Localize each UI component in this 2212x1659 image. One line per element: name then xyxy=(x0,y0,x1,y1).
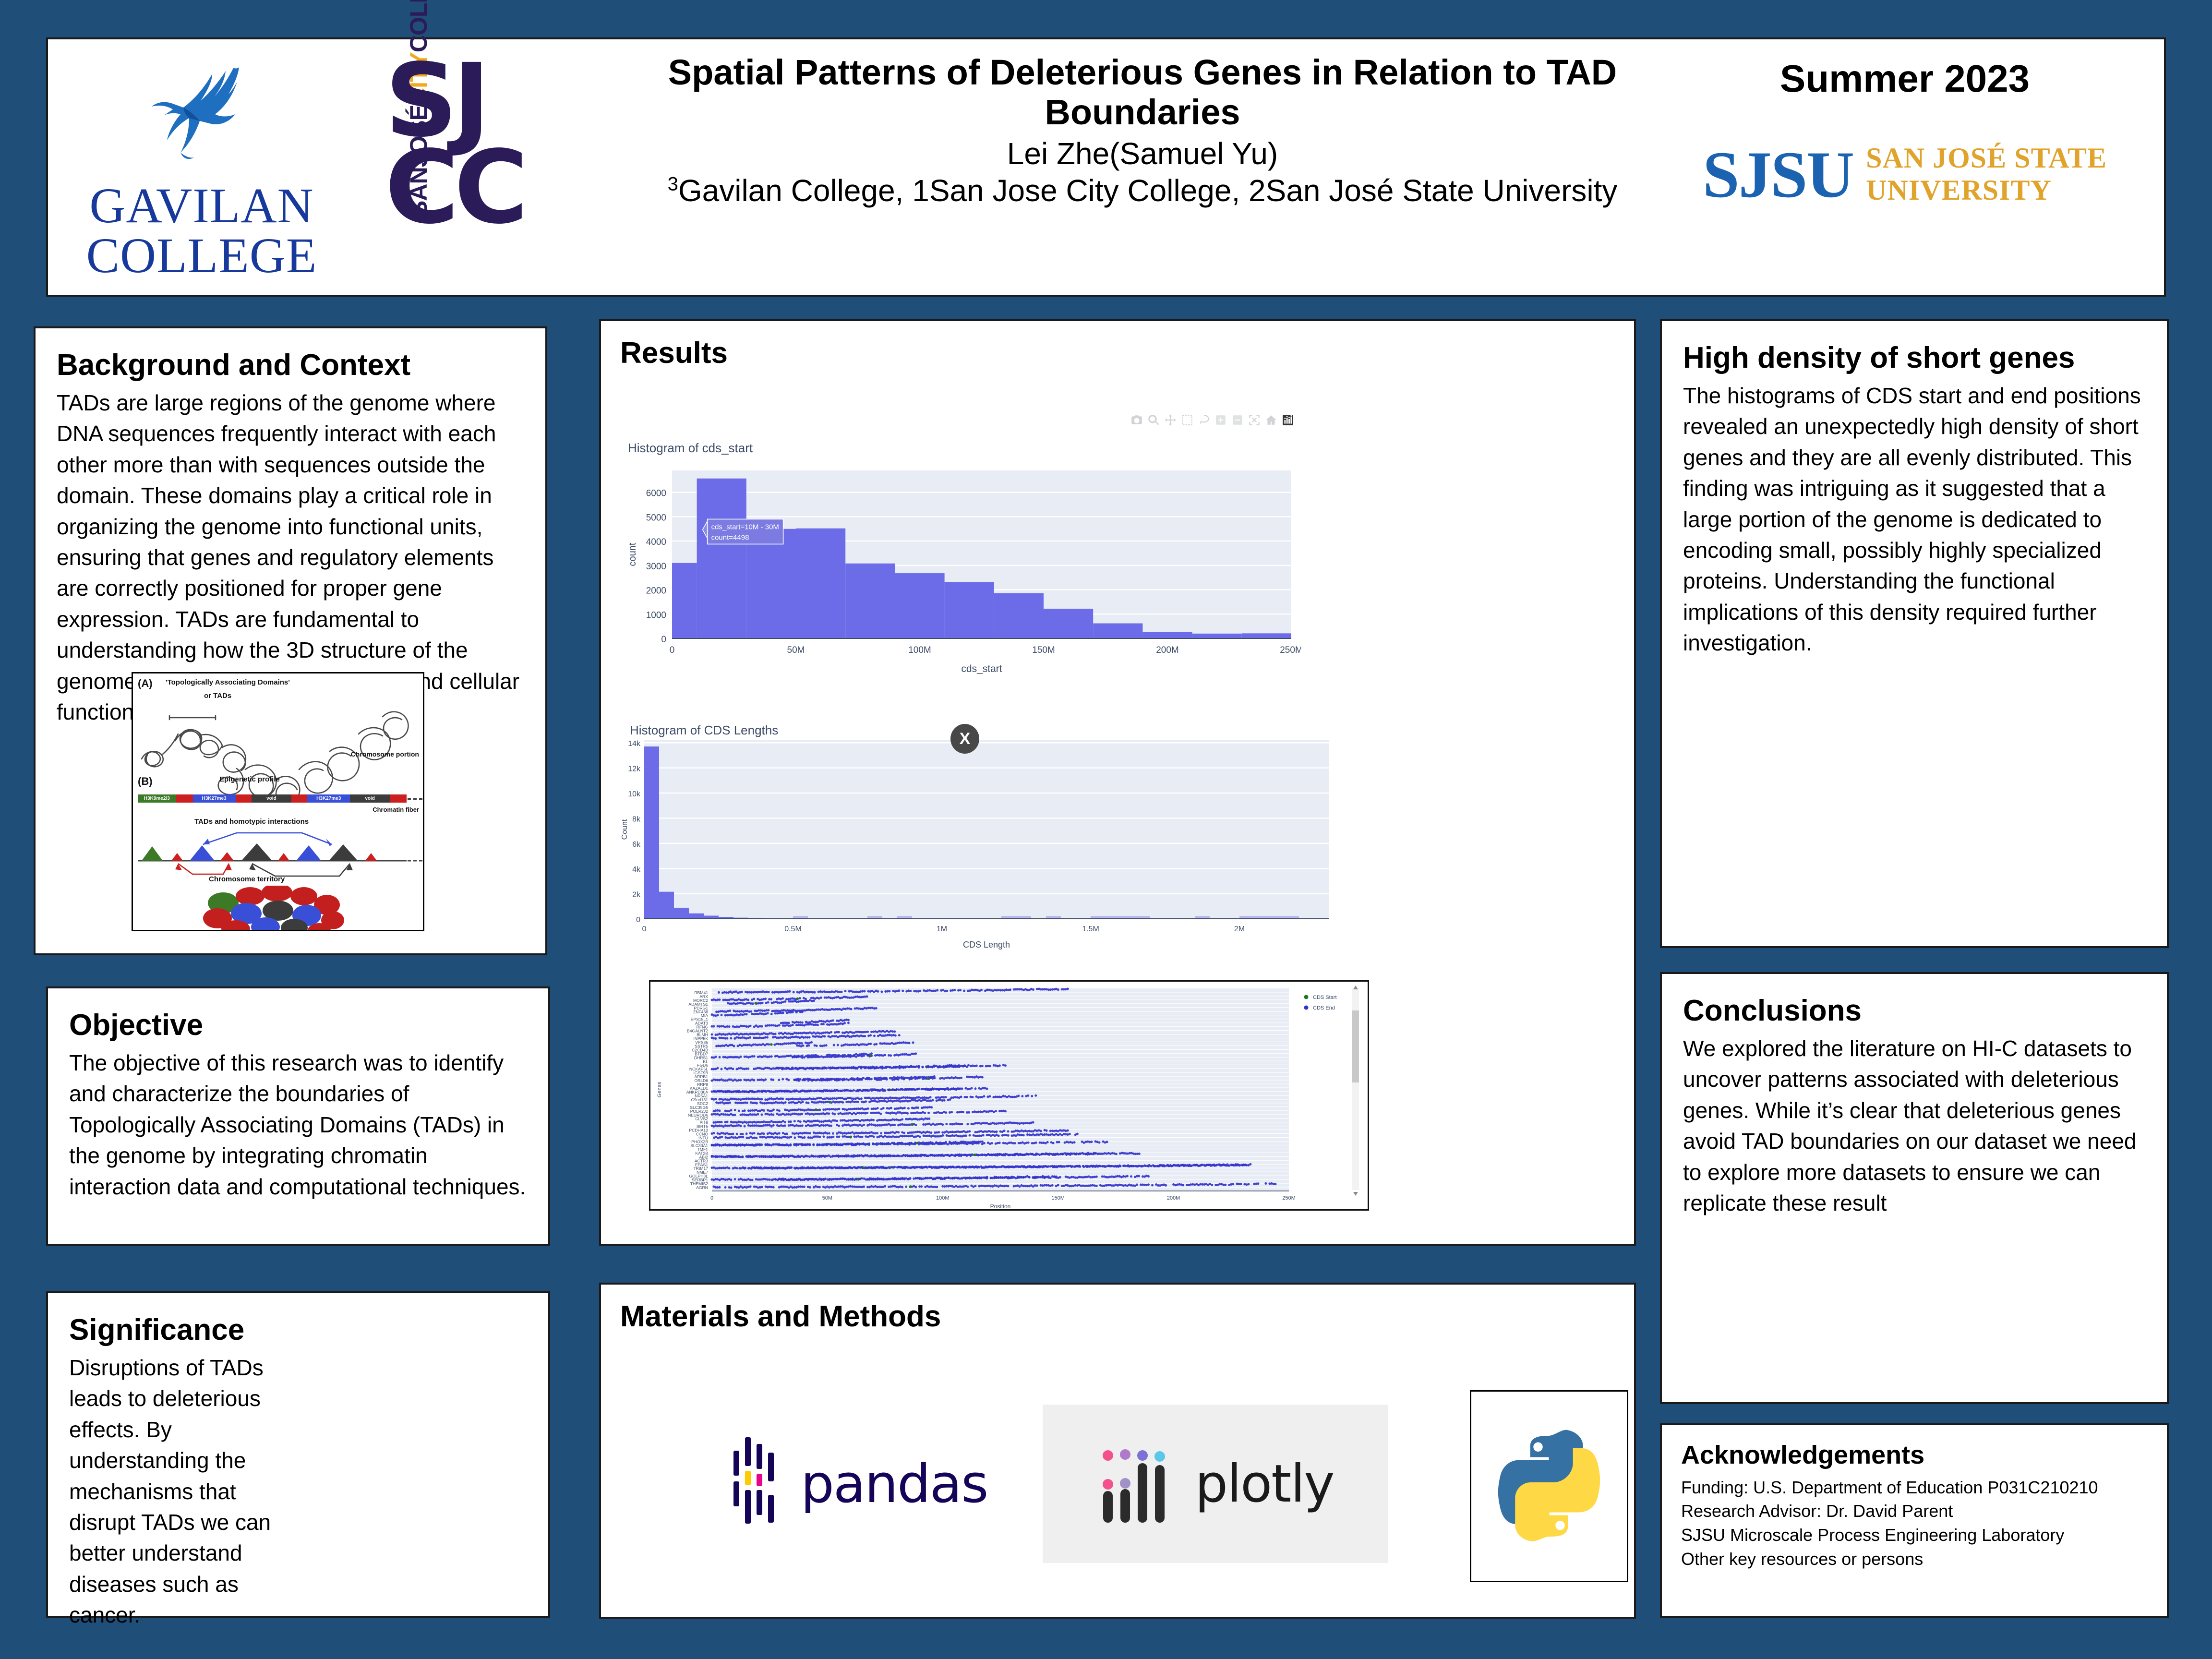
chromosome-portion-label: Chromosome portion xyxy=(351,750,419,758)
epigenetic-segment xyxy=(176,794,193,803)
section-conclusions: Conclusions We explored the literature o… xyxy=(1660,972,2169,1404)
chart1-xtick: 50M xyxy=(787,645,805,655)
chart-gene-position-scatter[interactable]: RBM41ARXMORC2ADAMTS1PDRG1ZNF468MIAEPS15L… xyxy=(649,980,1369,1211)
epigenetic-profile-label: Epigenetic profile xyxy=(219,775,280,783)
box-select-icon[interactable] xyxy=(1181,414,1193,426)
sjsu-line-1: SAN JOSÉ STATE xyxy=(1866,142,2107,174)
chart1-tooltip: cds_start=10M - 30Mcount=4498 xyxy=(703,519,783,544)
chart3-legend-item[interactable]: CDS Start xyxy=(1313,995,1337,1000)
chart1-ytick: 0 xyxy=(661,635,666,645)
gavilan-line-1: GAVILAN xyxy=(67,181,336,231)
chart1-xtick: 200M xyxy=(1156,645,1179,655)
chart3-xtick: 50M xyxy=(822,1195,832,1201)
epigenetic-segment: void xyxy=(252,794,291,803)
sjcc-logo: SANJOSÉCITYCOLLEGE SJ CC xyxy=(345,54,503,279)
section-objective: Objective The objective of this research… xyxy=(46,986,550,1246)
chart3-gene-label: AGRN xyxy=(696,1185,708,1190)
gavilan-college-logo: GAVILAN COLLEGE xyxy=(67,54,336,279)
header-title-block: Spatial Patterns of Deleterious Genes in… xyxy=(590,53,1695,209)
python-logo-icon xyxy=(1489,1426,1609,1546)
author-name: Lei Zhe(Samuel Yu) xyxy=(590,135,1695,172)
methods-logos-row: pandas xyxy=(601,1395,1634,1597)
lasso-select-icon[interactable] xyxy=(1198,414,1210,426)
objective-body: The objective of this research was to id… xyxy=(69,1047,527,1202)
term-label: Summer 2023 xyxy=(1674,57,2135,101)
pandas-mark-icon xyxy=(731,1433,788,1534)
chart2-xtick: 1M xyxy=(937,925,947,933)
acknowledgement-line: Other key resources or persons xyxy=(1681,1547,2148,1571)
high-density-title: High density of short genes xyxy=(1683,342,2146,373)
chart1-xlabel: cds_start xyxy=(961,663,1002,674)
chart1-tooltip-line2: count=4498 xyxy=(711,533,749,541)
camera-icon[interactable] xyxy=(1130,414,1143,426)
chromatin-fiber-dash xyxy=(408,798,424,800)
significance-body: Disruptions of TADs leads to deleterious… xyxy=(69,1352,304,1631)
pandas-wordmark: pandas xyxy=(801,1453,988,1515)
chart1-tooltip-line1: cds_start=10M - 30M xyxy=(711,523,779,531)
zoom-in-icon[interactable] xyxy=(1214,414,1227,426)
results-title: Results xyxy=(620,337,1615,369)
section-high-density-of-short-genes: High density of short genes The histogra… xyxy=(1660,319,2169,948)
chart2-ytick: 6k xyxy=(632,841,641,849)
tad-interaction-peaks xyxy=(138,828,424,881)
python-logo xyxy=(1470,1390,1628,1582)
affiliation-text: Gavilan College, 1San Jose City College,… xyxy=(678,173,1618,208)
gavilan-wordmark: GAVILAN COLLEGE xyxy=(67,181,336,281)
epigenetic-segment: H3K27me3 xyxy=(307,794,350,803)
zoom-icon[interactable] xyxy=(1147,414,1160,426)
chart1-svg: 0100020003000400050006000050M100M150M200… xyxy=(619,418,1301,686)
acknowledgement-line: Research Advisor: Dr. David Parent xyxy=(1681,1499,2148,1523)
epigenetic-segment: H3K27me3 xyxy=(193,794,236,803)
page-title: Spatial Patterns of Deleterious Genes in… xyxy=(590,53,1695,132)
chart3-xlabel: Position xyxy=(990,1203,1011,1209)
chart2-title: Histogram of CDS Lengths xyxy=(630,723,778,738)
chart2-ytick: 2k xyxy=(632,891,641,899)
chart1-title: Histogram of cds_start xyxy=(628,441,753,456)
chart2-ytick: 0 xyxy=(636,916,640,924)
reset-home-icon[interactable] xyxy=(1265,414,1277,426)
plotly-logo: plotly xyxy=(1043,1405,1388,1563)
sjsu-wordmark: SJSU xyxy=(1703,143,1853,206)
section-acknowledgements: Acknowledgements Funding: U.S. Departmen… xyxy=(1660,1423,2169,1618)
epigenetic-segment xyxy=(236,794,252,803)
close-icon[interactable]: X xyxy=(950,724,979,754)
plotly-modebar-chart1[interactable] xyxy=(1130,414,1294,426)
chart3-xtick: 100M xyxy=(936,1195,950,1201)
epigenetic-segment: void xyxy=(350,794,390,803)
section-materials-and-methods: Materials and Methods xyxy=(599,1283,1636,1619)
materials-title: Materials and Methods xyxy=(620,1301,1615,1332)
chart3-legend-item[interactable]: CDS End xyxy=(1313,1005,1335,1011)
chart3-xtick: 0 xyxy=(710,1195,713,1201)
gavilan-bird-icon xyxy=(139,62,274,182)
chart2-xtick: 2M xyxy=(1234,925,1245,933)
epigenetic-profile-bar: H3K9me2/3H3K27me3voidH3K27me3void xyxy=(138,794,407,803)
chart1-xtick: 100M xyxy=(908,645,931,655)
chart1-xtick: 0 xyxy=(670,645,675,655)
chart1-ytick: 4000 xyxy=(646,537,666,547)
gavilan-line-2: COLLEGE xyxy=(67,231,336,281)
chart1-ytick: 6000 xyxy=(646,489,666,499)
chromatin-fiber-label: Chromatin fiber xyxy=(373,806,419,813)
chart1-ylabel: count xyxy=(627,542,638,566)
zoom-out-icon[interactable] xyxy=(1231,414,1244,426)
chromosome-territory-blobs xyxy=(200,886,359,931)
chart1-xtick: 150M xyxy=(1032,645,1055,655)
acknowledgement-line: Funding: U.S. Department of Education P0… xyxy=(1681,1476,2148,1500)
chart3-xtick: 150M xyxy=(1051,1195,1065,1201)
section-significance: Significance Disruptions of TADs leads t… xyxy=(46,1291,550,1618)
tad-panel-b-label: (B) xyxy=(138,775,153,788)
chart1-ytick: 2000 xyxy=(646,586,666,596)
background-title: Background and Context xyxy=(57,349,524,381)
chart3-ylabel: Genes xyxy=(657,1082,662,1097)
sjsu-line-2: UNIVERSITY xyxy=(1866,174,2107,206)
tad-diagram-figure: (A) 'Topologically Associating Domains' … xyxy=(132,672,424,931)
chart1-xtick: 250M xyxy=(1280,645,1301,655)
chart-histogram-cds-start[interactable]: Histogram of cds_start 01000200030004000… xyxy=(619,418,1301,686)
chart1-ytick: 3000 xyxy=(646,562,666,572)
pandas-logo: pandas xyxy=(731,1424,999,1544)
sjcc-monogram: SJ CC xyxy=(385,58,523,231)
epigenetic-segment xyxy=(291,794,307,803)
significance-title: Significance xyxy=(69,1314,527,1346)
sjsu-fullname: SAN JOSÉ STATE UNIVERSITY xyxy=(1866,142,2107,206)
chart3-svg: RBM41ARXMORC2ADAMTS1PDRG1ZNF468MIAEPS15L… xyxy=(650,982,1368,1209)
conclusions-title: Conclusions xyxy=(1683,995,2146,1026)
chart2-xtick: 1.5M xyxy=(1082,925,1099,933)
epigenetic-segment xyxy=(390,794,407,803)
high-density-body: The histograms of CDS start and end posi… xyxy=(1683,380,2146,659)
chart-histogram-cds-lengths[interactable]: Histogram of CDS Lengths X 02k4k6k8k10k1… xyxy=(619,715,1339,970)
plotly-wordmark: plotly xyxy=(1195,1454,1334,1514)
chart2-xlabel: CDS Length xyxy=(963,940,1010,950)
objective-title: Objective xyxy=(69,1010,527,1041)
poster-root: GAVILAN COLLEGE SANJOSÉCITYCOLLEGE SJ CC xyxy=(0,0,2212,1659)
poster-header: GAVILAN COLLEGE SANJOSÉCITYCOLLEGE SJ CC xyxy=(46,37,2166,297)
tads-homotypic-label: TADs and homotypic interactions xyxy=(194,817,309,826)
affiliation-superscript: 3 xyxy=(668,173,678,194)
chart3-xtick: 250M xyxy=(1282,1195,1296,1201)
sjsu-logo: SJSU SAN JOSÉ STATE UNIVERSITY xyxy=(1674,142,2135,206)
chromosome-territory-label: Chromosome territory xyxy=(209,875,285,883)
chart2-ytick: 10k xyxy=(628,790,641,798)
chart3-xtick: 200M xyxy=(1167,1195,1180,1201)
autoscale-icon[interactable] xyxy=(1248,414,1261,426)
acknowledgements-list: Funding: U.S. Department of Education P0… xyxy=(1681,1476,2148,1571)
epigenetic-segment: H3K9me2/3 xyxy=(138,794,176,803)
chart2-ytick: 8k xyxy=(632,815,641,823)
acknowledgement-line: SJSU Microscale Process Engineering Labo… xyxy=(1681,1523,2148,1547)
chart2-svg: 02k4k6k8k10k12k14k00.5M1M1.5M2MCDS Lengt… xyxy=(619,715,1339,970)
header-left-logos: GAVILAN COLLEGE SANJOSÉCITYCOLLEGE SJ CC xyxy=(67,44,576,289)
tad-title-line-1: 'Topologically Associating Domains' xyxy=(166,678,290,686)
acknowledgements-title: Acknowledgements xyxy=(1681,1442,2148,1469)
chart2-ytick: 14k xyxy=(628,740,641,748)
plotly-mark-icon xyxy=(1097,1433,1184,1534)
header-right-block: Summer 2023 SJSU SAN JOSÉ STATE UNIVERSI… xyxy=(1674,57,2135,206)
chart2-xtick: 0.5M xyxy=(784,925,802,933)
plotly-logo-icon[interactable] xyxy=(1282,414,1294,426)
chart2-ytick: 4k xyxy=(632,866,641,874)
chart2-ylabel: Count xyxy=(621,819,629,840)
chart1-ytick: 1000 xyxy=(646,610,666,620)
tad-panel-a-label: (A) xyxy=(138,677,153,690)
chart2-xtick: 0 xyxy=(642,925,647,933)
sjcc-cc: CC xyxy=(385,144,523,231)
affiliations: 3Gavilan College, 1San Jose City College… xyxy=(590,172,1695,209)
conclusions-body: We explored the literature on HI-C datas… xyxy=(1683,1033,2146,1218)
chart2-ytick: 12k xyxy=(628,765,641,773)
chart1-ytick: 5000 xyxy=(646,513,666,523)
pan-icon[interactable] xyxy=(1164,414,1177,426)
